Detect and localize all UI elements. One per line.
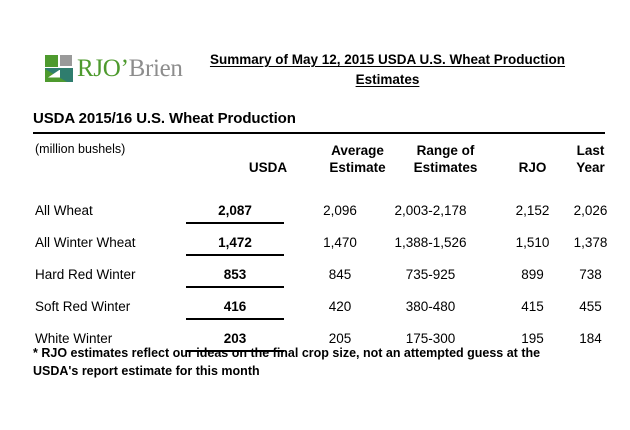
column-header-last-year-line-1: Last (543, 142, 630, 159)
cell-usda-underline (186, 286, 284, 288)
column-header-range-of-estimates-line-1: Range of (373, 142, 518, 159)
row-label: Hard Red Winter (35, 259, 136, 291)
table-body: All Wheat 2,087 2,096 2,003-2,178 2,152 … (33, 195, 607, 355)
cell-usda-underline (186, 318, 284, 320)
cell-range-of-estimates: 2,003-2,178 (358, 195, 503, 227)
cell-range-of-estimates: 1,388-1,526 (358, 227, 503, 259)
footnote-line-2: USDA's report estimate for this month (33, 362, 613, 380)
page-title-line-2: Estimates (356, 72, 420, 87)
document-header: RJO’Brien Summary of May 12, 2015 USDA U… (0, 44, 630, 102)
cell-last-year: 738 (543, 259, 630, 291)
cell-last-year: 2,026 (543, 195, 630, 227)
cell-last-year: 1,378 (543, 227, 630, 259)
rjo-brien-logo-mark-icon (45, 55, 74, 82)
table-row: Soft Red Winter 416 420 380-480 415 455 (33, 291, 607, 323)
logo-gray-square-icon (60, 55, 72, 66)
row-label: Soft Red Winter (35, 291, 130, 323)
document-page: RJO’Brien Summary of May 12, 2015 USDA U… (0, 0, 630, 430)
column-header-last-year-line-2: Year (543, 159, 630, 176)
logo-wordmark: RJO’Brien (77, 56, 183, 81)
section-divider (33, 132, 605, 134)
page-title-line-1: Summary of May 12, 2015 USDA U.S. Wheat … (210, 52, 565, 67)
section-heading: USDA 2015/16 U.S. Wheat Production (33, 110, 296, 127)
table-row: All Winter Wheat 1,472 1,470 1,388-1,526… (33, 227, 607, 259)
rjo-brien-logo: RJO’Brien (45, 53, 183, 83)
logo-teal-block-icon (45, 68, 73, 82)
cell-range-of-estimates: 735-925 (358, 259, 503, 291)
page-title: Summary of May 12, 2015 USDA U.S. Wheat … (185, 50, 590, 90)
logo-wordmark-brien: Brien (129, 55, 183, 82)
logo-wordmark-apostrophe: ’ (121, 55, 129, 82)
cell-range-of-estimates: 380-480 (358, 291, 503, 323)
logo-wordmark-rjo: RJO (77, 55, 121, 82)
row-label: All Winter Wheat (35, 227, 136, 259)
units-label: (million bushels) (35, 142, 125, 156)
footnote-line-1: * RJO estimates reflect our ideas on the… (33, 344, 613, 362)
table-row: All Wheat 2,087 2,096 2,003-2,178 2,152 … (33, 195, 607, 227)
cell-usda-underline (186, 222, 284, 224)
cell-usda-underline (186, 254, 284, 256)
logo-green-square-icon (45, 55, 58, 67)
footnote: * RJO estimates reflect our ideas on the… (33, 344, 613, 380)
cell-last-year: 455 (543, 291, 630, 323)
column-header-last-year: Last Year (543, 142, 630, 176)
row-label: All Wheat (35, 195, 93, 227)
table-row: Hard Red Winter 853 845 735-925 899 738 (33, 259, 607, 291)
